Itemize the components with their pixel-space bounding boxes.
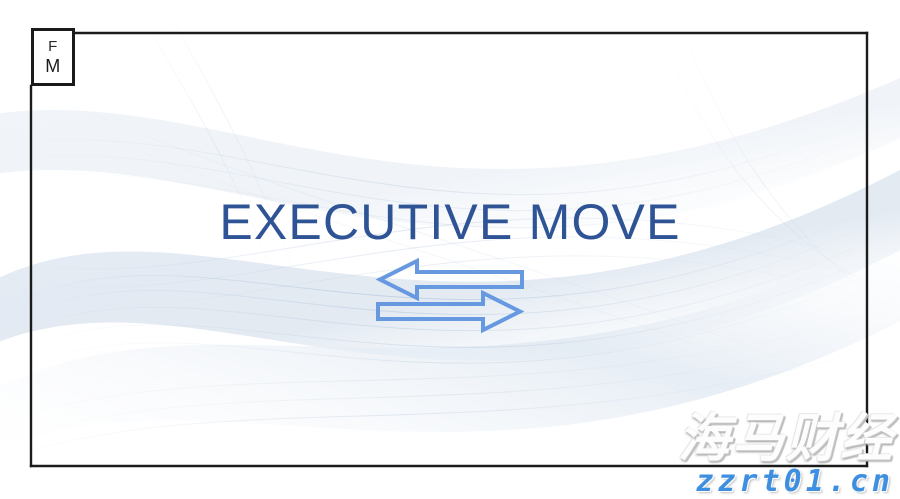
page-title: EXECUTIVE MOVE: [0, 193, 900, 251]
two-way-arrows-icon: [370, 255, 530, 340]
logo-letter-f: F: [48, 39, 58, 54]
logo-letter-m: M: [45, 57, 61, 75]
right-pointing-arrow: [378, 293, 520, 330]
fm-logo-badge: F M: [31, 28, 75, 86]
slide-canvas: F M EXECUTIVE MOVE 海马财经 zzrt01.cn: [0, 0, 900, 499]
left-pointing-arrow: [380, 261, 522, 298]
